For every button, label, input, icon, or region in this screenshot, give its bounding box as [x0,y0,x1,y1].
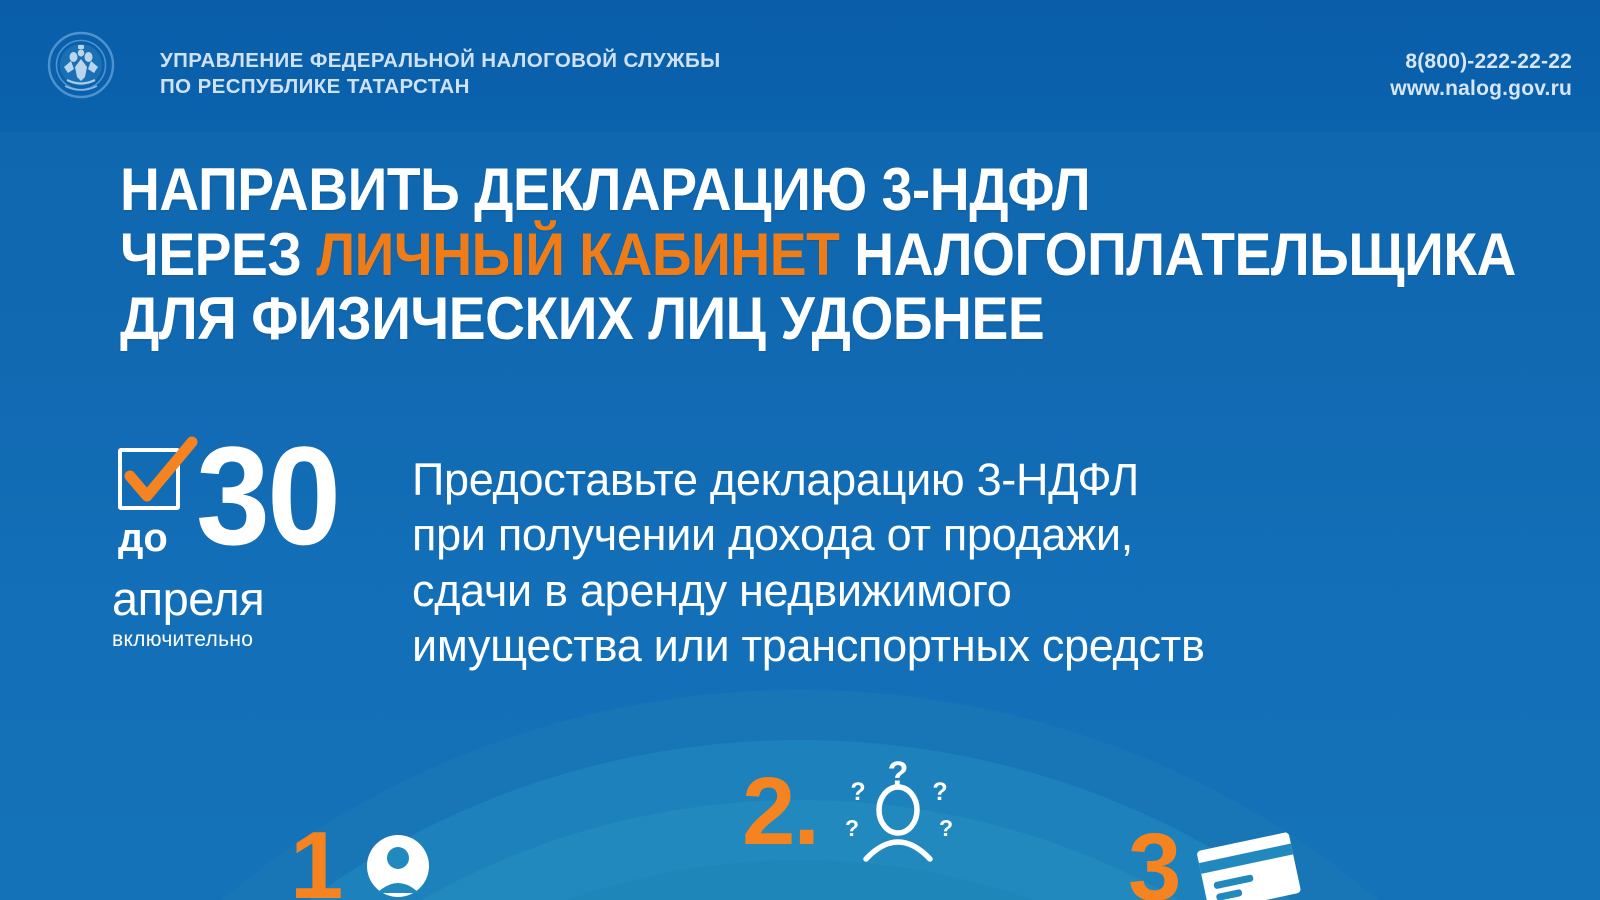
infographic-poster: УПРАВЛЕНИЕ ФЕДЕРАЛЬНОЙ НАЛОГОВОЙ СЛУЖБЫ … [0,0,1600,900]
deadline-badge: до 30 апреля включительно [112,440,362,652]
page-title: НАПРАВИТЬ ДЕКЛАРАЦИЮ 3-НДФЛ ЧЕРЕЗ ЛИЧНЫЙ… [120,158,1463,352]
document-card-icon [1193,823,1303,900]
deadline-month: апреля [112,575,362,622]
body-line-4: имущества или транспортных средств [412,618,1542,673]
headline-line-2: ЧЕРЕЗ ЛИЧНЫЙ КАБИНЕТ НАЛОГОПЛАТЕЛЬЩИКА [120,223,1463,288]
person-with-questions-icon: ? ? ? ? ? [832,752,964,872]
body-line-1: Предоставьте декларацию 3-НДФЛ [412,452,1542,507]
header-organization-name: УПРАВЛЕНИЕ ФЕДЕРАЛЬНОЙ НАЛОГОВОЙ СЛУЖБЫ … [160,48,721,100]
phone-number[interactable]: 8(800)-222-22-22 [1390,48,1572,75]
header-contact-block: 8(800)-222-22-22 www.nalog.gov.ru [1390,48,1572,103]
header-org-line-1: УПРАВЛЕНИЕ ФЕДЕРАЛЬНОЙ НАЛОГОВОЙ СЛУЖБЫ [160,48,721,74]
headline-line-2-post: НАЛОГОПЛАТЕЛЬЩИКА [839,221,1516,288]
step-3-number: 3 [1128,820,1179,900]
svg-text:?: ? [888,755,909,793]
russian-federation-tax-service-emblem-icon [47,31,115,99]
website-url[interactable]: www.nalog.gov.ru [1390,75,1572,102]
user-avatar-icon [355,823,441,900]
header-org-line-2: ПО РЕСПУБЛИКЕ ТАТАРСТАН [160,74,721,100]
headline-line-2-pre: ЧЕРЕЗ [120,221,316,288]
step-item-1: 1 [290,818,441,900]
deadline-day: 30 [196,426,338,566]
step-1-number: 1 [290,818,341,900]
svg-text:?: ? [845,815,859,841]
deadline-note: включительно [112,628,362,652]
step-item-2: 2. ? ? ? ? ? [742,752,964,872]
deadline-badge-top-row: до 30 [112,440,362,565]
svg-text:?: ? [850,778,865,806]
step-2-number: 2. [742,764,818,860]
headline-accent-phrase: ЛИЧНЫЙ КАБИНЕТ [316,221,839,288]
body-description: Предоставьте декларацию 3-НДФЛ при получ… [412,452,1542,673]
headline-line-1: НАПРАВИТЬ ДЕКЛАРАЦИЮ 3-НДФЛ [120,158,1463,223]
body-line-2: при получении дохода от продажи, [412,507,1542,562]
headline-line-3: ДЛЯ ФИЗИЧЕСКИХ ЛИЦ УДОБНЕЕ [120,287,1463,352]
body-line-3: сдачи в аренду недвижимого [412,563,1542,618]
orange-checkmark-icon [120,436,200,516]
svg-text:?: ? [939,815,953,841]
checked-checkbox-icon [118,448,194,524]
svg-text:?: ? [932,778,947,806]
deadline-prefix: до [118,518,168,558]
step-item-3: 3 [1128,820,1303,900]
